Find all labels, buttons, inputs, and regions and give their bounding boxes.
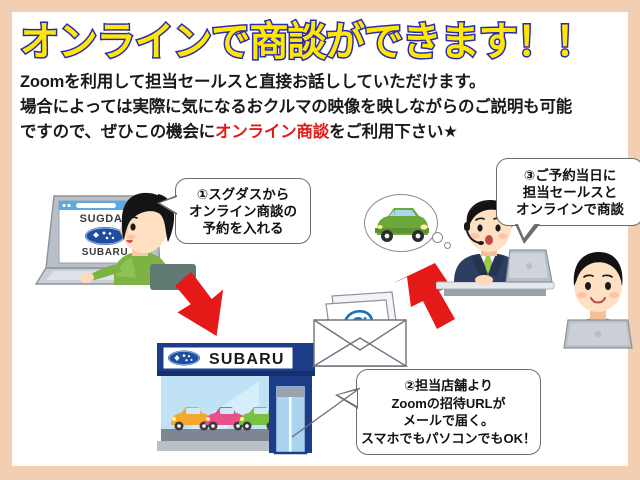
callout-1-line-1: ①スグダスから bbox=[197, 186, 289, 203]
page-title: オンラインで商談ができます！！ bbox=[20, 18, 616, 66]
callout-2-line-4: スマホでもパソコンでもOK！ bbox=[361, 430, 536, 448]
svg-text:SUBARU: SUBARU bbox=[209, 351, 285, 368]
leader-line-dealership bbox=[288, 342, 368, 452]
poster-card: オンラインで商談ができます！！ Zoomを利用して担当セールスと直接お話ししてい… bbox=[12, 12, 628, 466]
body-line-3-after: をご利用下さい★ bbox=[329, 123, 458, 141]
speech-bubble-car bbox=[364, 194, 438, 252]
body-line-3: ですので、ぜひこの機会にオンライン商談をご利用下さい★ bbox=[20, 120, 620, 145]
body-line-1: Zoomを利用して担当セールスと直接お話ししていただけます。 bbox=[20, 70, 620, 95]
arrow-down-right bbox=[167, 269, 241, 337]
body-line-3-before: ですので、ぜひこの機会に bbox=[20, 123, 215, 141]
body-copy: Zoomを利用して担当セールスと直接お話ししていただけます。 場合によっては実際… bbox=[20, 70, 620, 145]
callout-tail-inner bbox=[517, 222, 536, 238]
body-line-3-highlight: オンライン商談 bbox=[215, 123, 329, 141]
callout-step-2: ②担当店舗より Zoomの招待URLが メールで届く。 スマホでもパソコンでもO… bbox=[356, 369, 541, 455]
callout-3-line-3: オンラインで商談 bbox=[516, 201, 624, 218]
poster-page: オンラインで商談ができます！！ Zoomを利用して担当セールスと直接お話ししてい… bbox=[0, 0, 640, 480]
callout-step-3: ③ご予約当日に 担当セールスと オンラインで商談 bbox=[496, 158, 640, 226]
callout-1-line-2: オンライン商談の bbox=[189, 203, 297, 220]
body-line-2: 場合によっては実際に気になるおクルマの映像を映しながらのご説明も可能 bbox=[20, 95, 620, 120]
callout-tail-inner bbox=[160, 197, 177, 213]
callout-step-1: ①スグダスから オンライン商談の 予約を入れる bbox=[175, 178, 311, 244]
callout-2-line-3: メールで届く。 bbox=[403, 412, 494, 430]
illustration-customer bbox=[558, 244, 640, 352]
callout-2-line-2: Zoomの招待URLが bbox=[391, 395, 505, 413]
callout-1-line-3: 予約を入れる bbox=[203, 220, 284, 237]
callout-3-line-1: ③ご予約当日に bbox=[524, 167, 616, 184]
callout-3-line-2: 担当セールスと bbox=[523, 184, 618, 201]
callout-2-line-1: ②担当店舗より bbox=[404, 377, 493, 395]
svg-text:SUBARU: SUBARU bbox=[82, 247, 128, 258]
